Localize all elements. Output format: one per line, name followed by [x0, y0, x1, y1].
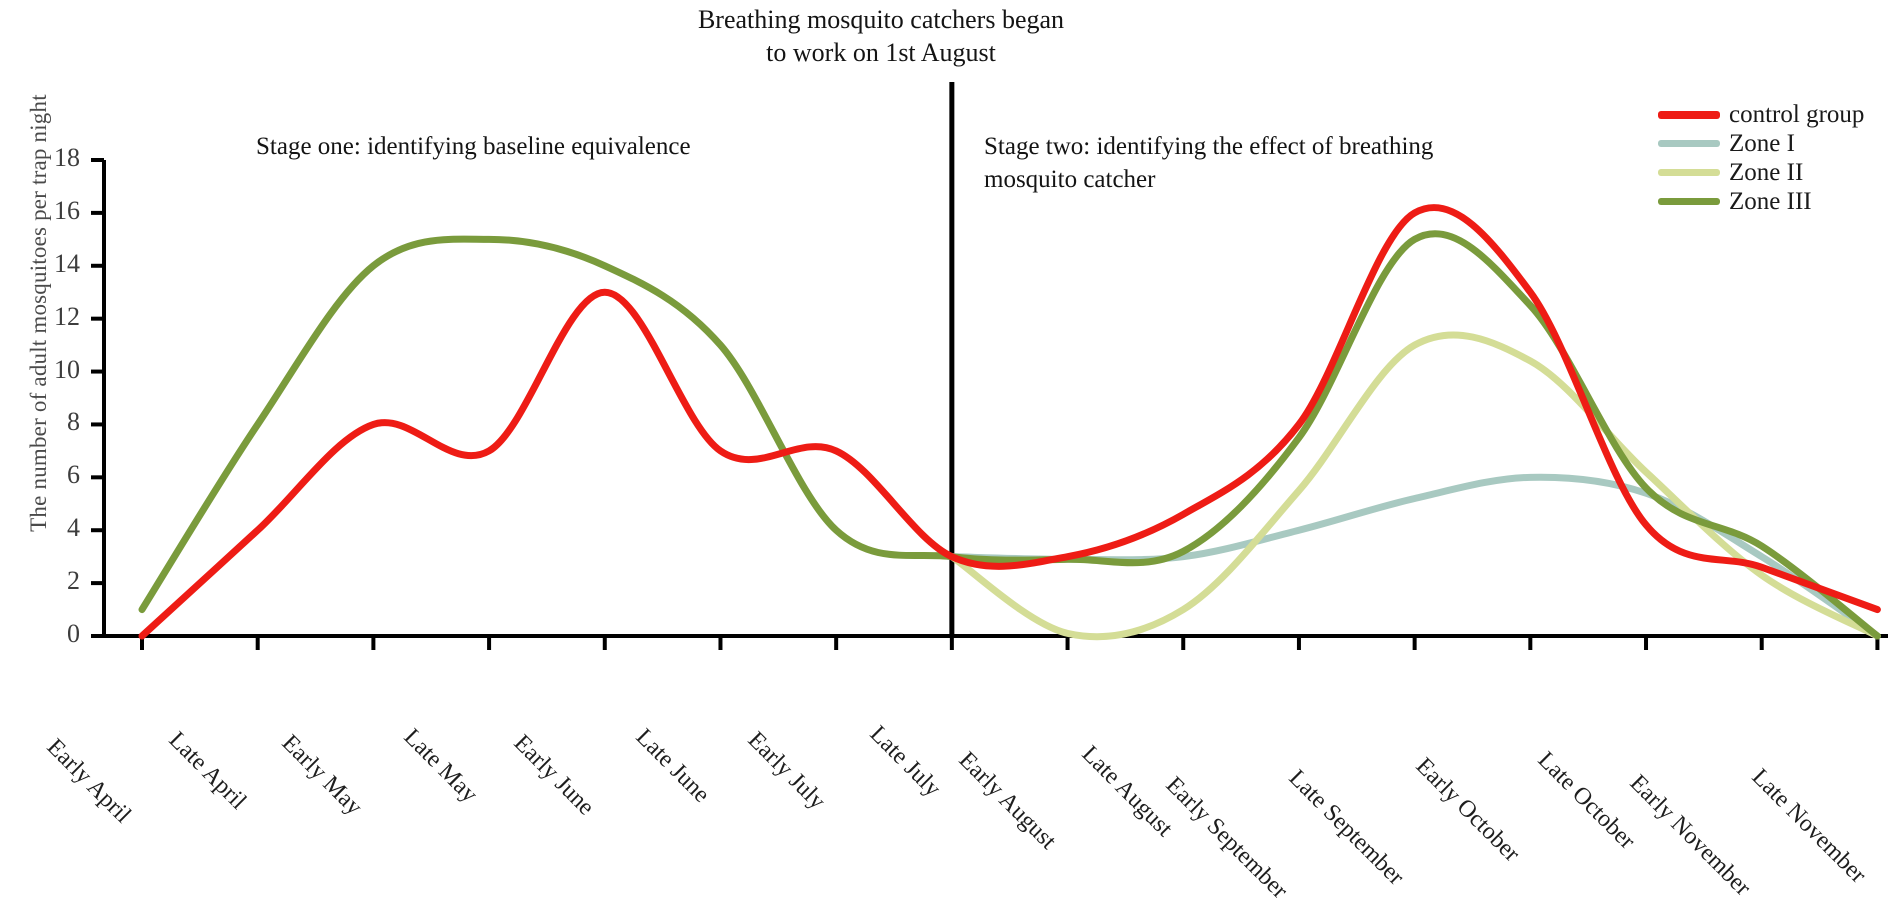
y-tick-label: 0 — [40, 619, 80, 649]
y-tick-label: 6 — [40, 460, 80, 490]
legend-swatch-icon — [1658, 198, 1720, 205]
legend-item[interactable]: Zone III — [1658, 187, 1864, 216]
y-tick-label: 12 — [40, 302, 80, 332]
series-line-control-group — [142, 208, 1877, 636]
legend-item-label: Zone II — [1729, 160, 1803, 185]
legend-item-label: Zone III — [1729, 189, 1812, 214]
series-group — [142, 208, 1877, 637]
y-tick-label: 16 — [40, 196, 80, 226]
y-tick-label: 2 — [40, 566, 80, 596]
y-tick-label: 10 — [40, 355, 80, 385]
legend: control groupZone IZone IIZone III — [1658, 100, 1864, 216]
legend-swatch-icon — [1658, 140, 1720, 147]
y-tick-label: 4 — [40, 513, 80, 543]
y-tick-label: 14 — [40, 249, 80, 279]
axes-group — [91, 160, 1888, 650]
legend-swatch-icon — [1658, 169, 1720, 176]
y-tick-label: 8 — [40, 407, 80, 437]
legend-swatch-icon — [1658, 111, 1720, 119]
legend-item[interactable]: control group — [1658, 100, 1864, 129]
series-line-zone-iii — [142, 234, 1877, 636]
y-tick-label: 18 — [40, 143, 80, 173]
legend-item[interactable]: Zone II — [1658, 158, 1864, 187]
legend-item-label: Zone I — [1729, 131, 1795, 156]
plot-area — [0, 0, 1902, 799]
legend-item-label: control group — [1729, 102, 1864, 127]
series-line-zone-ii — [952, 335, 1878, 637]
legend-item[interactable]: Zone I — [1658, 129, 1864, 158]
mosquito-trap-line-chart: Breathing mosquito catchers began to wor… — [0, 0, 1902, 799]
